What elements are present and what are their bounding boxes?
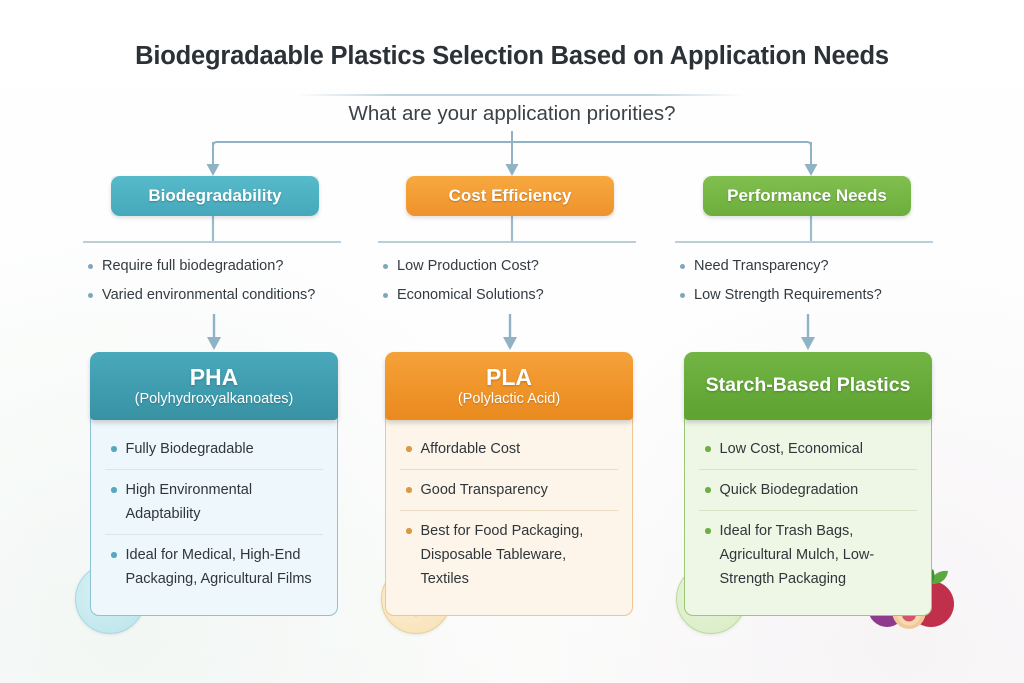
category-column-biodegradability: Biodegradability <box>65 176 365 216</box>
category-label: Biodegradability <box>148 186 281 206</box>
feature-item: Ideal for Medical, High-End Packaging, A… <box>105 534 323 599</box>
question-item[interactable]: Low Production Cost? <box>383 252 673 281</box>
question-item[interactable]: Require full biodegradation? <box>88 252 378 281</box>
category-column-performance-needs: Performance Needs <box>657 176 957 216</box>
category-column-cost-efficiency: Cost Efficiency <box>360 176 660 216</box>
bullet-icon <box>383 264 388 269</box>
result-card-body: Fully Biodegradable High Environmental A… <box>90 416 338 616</box>
result-card-pha[interactable]: PHA (Polyhydroxyalkanoates) Fully Biodeg… <box>90 352 338 616</box>
category-divider-3 <box>675 241 933 243</box>
category-band: Performance Needs <box>657 176 957 216</box>
bullet-icon <box>680 264 685 269</box>
feature-item: Best for Food Packaging, Disposable Tabl… <box>400 510 618 599</box>
bullet-icon <box>88 264 93 269</box>
question-list-performance-needs: Need Transparency? Low Strength Requirem… <box>680 252 970 310</box>
feature-text: Ideal for Medical, High-End Packaging, A… <box>126 543 322 591</box>
category-pill-cost-efficiency[interactable]: Cost Efficiency <box>406 176 614 216</box>
bullet-icon <box>705 446 711 452</box>
question-text: Low Production Cost? <box>397 252 539 281</box>
bullet-icon <box>680 293 685 298</box>
bullet-icon <box>406 528 412 534</box>
category-band: Cost Efficiency <box>360 176 660 216</box>
question-item[interactable]: Low Strength Requirements? <box>680 281 970 310</box>
result-card-body: Affordable Cost Good Transparency Best f… <box>385 416 633 616</box>
feature-text: Good Transparency <box>421 478 548 502</box>
question-list-biodegradability: Require full biodegradation? Varied envi… <box>88 252 378 310</box>
feature-item: Low Cost, Economical <box>699 429 917 469</box>
title-divider <box>295 94 745 96</box>
feature-item: High Environmental Adaptability <box>105 469 323 534</box>
feature-text: Ideal for Trash Bags, Agricultural Mulch… <box>720 519 916 591</box>
question-text: Low Strength Requirements? <box>694 281 882 310</box>
question-text: Need Transparency? <box>694 252 829 281</box>
category-label: Performance Needs <box>727 186 887 206</box>
page-title: Biodegradaable Plastics Selection Based … <box>0 42 1024 71</box>
result-card-starch-based-plastics[interactable]: Starch-Based Plastics Low Cost, Economic… <box>684 352 932 616</box>
bullet-icon <box>111 552 117 558</box>
bullet-icon <box>705 487 711 493</box>
bullet-icon <box>111 487 117 493</box>
feature-text: Best for Food Packaging, Disposable Tabl… <box>421 519 617 591</box>
bullet-icon <box>111 446 117 452</box>
result-card-subtitle: (Polylactic Acid) <box>458 391 560 407</box>
question-item[interactable]: Varied environmental conditions? <box>88 281 378 310</box>
result-card-title: PLA <box>486 365 532 389</box>
category-label: Cost Efficiency <box>449 186 572 206</box>
feature-item: Ideal for Trash Bags, Agricultural Mulch… <box>699 510 917 599</box>
question-list-cost-efficiency: Low Production Cost? Economical Solution… <box>383 252 673 310</box>
category-pill-performance-needs[interactable]: Performance Needs <box>703 176 911 216</box>
feature-text: Low Cost, Economical <box>720 437 863 461</box>
bullet-icon <box>406 487 412 493</box>
question-text: Varied environmental conditions? <box>102 281 315 310</box>
feature-item: Quick Biodegradation <box>699 469 917 510</box>
feature-text: Fully Biodegradable <box>126 437 254 461</box>
result-card-header: PLA (Polylactic Acid) <box>385 352 633 420</box>
feature-item: Affordable Cost <box>400 429 618 469</box>
question-text: Require full biodegradation? <box>102 252 283 281</box>
feature-text: High Environmental Adaptability <box>126 478 322 526</box>
result-card-header: PHA (Polyhydroxyalkanoates) <box>90 352 338 420</box>
result-card-title: PHA <box>190 365 239 389</box>
question-item[interactable]: Need Transparency? <box>680 252 970 281</box>
category-pill-biodegradability[interactable]: Biodegradability <box>111 176 319 216</box>
feature-item: Good Transparency <box>400 469 618 510</box>
bullet-icon <box>383 293 388 298</box>
diagram-canvas: Biodegradaable Plastics Selection Based … <box>0 0 1024 683</box>
category-divider-2 <box>378 241 636 243</box>
bullet-icon <box>705 528 711 534</box>
bullet-icon <box>406 446 412 452</box>
result-card-pla[interactable]: PLA (Polylactic Acid) Affordable Cost Go… <box>385 352 633 616</box>
result-card-title: Starch-Based Plastics <box>706 375 911 395</box>
result-card-body: Low Cost, Economical Quick Biodegradatio… <box>684 416 932 616</box>
category-divider-1 <box>83 241 341 243</box>
question-text: Economical Solutions? <box>397 281 544 310</box>
bullet-icon <box>88 293 93 298</box>
feature-item: Fully Biodegradable <box>105 429 323 469</box>
root-question: What are your application priorities? <box>0 102 1024 126</box>
feature-text: Affordable Cost <box>421 437 521 461</box>
question-item[interactable]: Economical Solutions? <box>383 281 673 310</box>
feature-text: Quick Biodegradation <box>720 478 859 502</box>
category-band: Biodegradability <box>65 176 365 216</box>
result-card-subtitle: (Polyhydroxyalkanoates) <box>135 391 294 407</box>
result-card-header: Starch-Based Plastics <box>684 352 932 420</box>
